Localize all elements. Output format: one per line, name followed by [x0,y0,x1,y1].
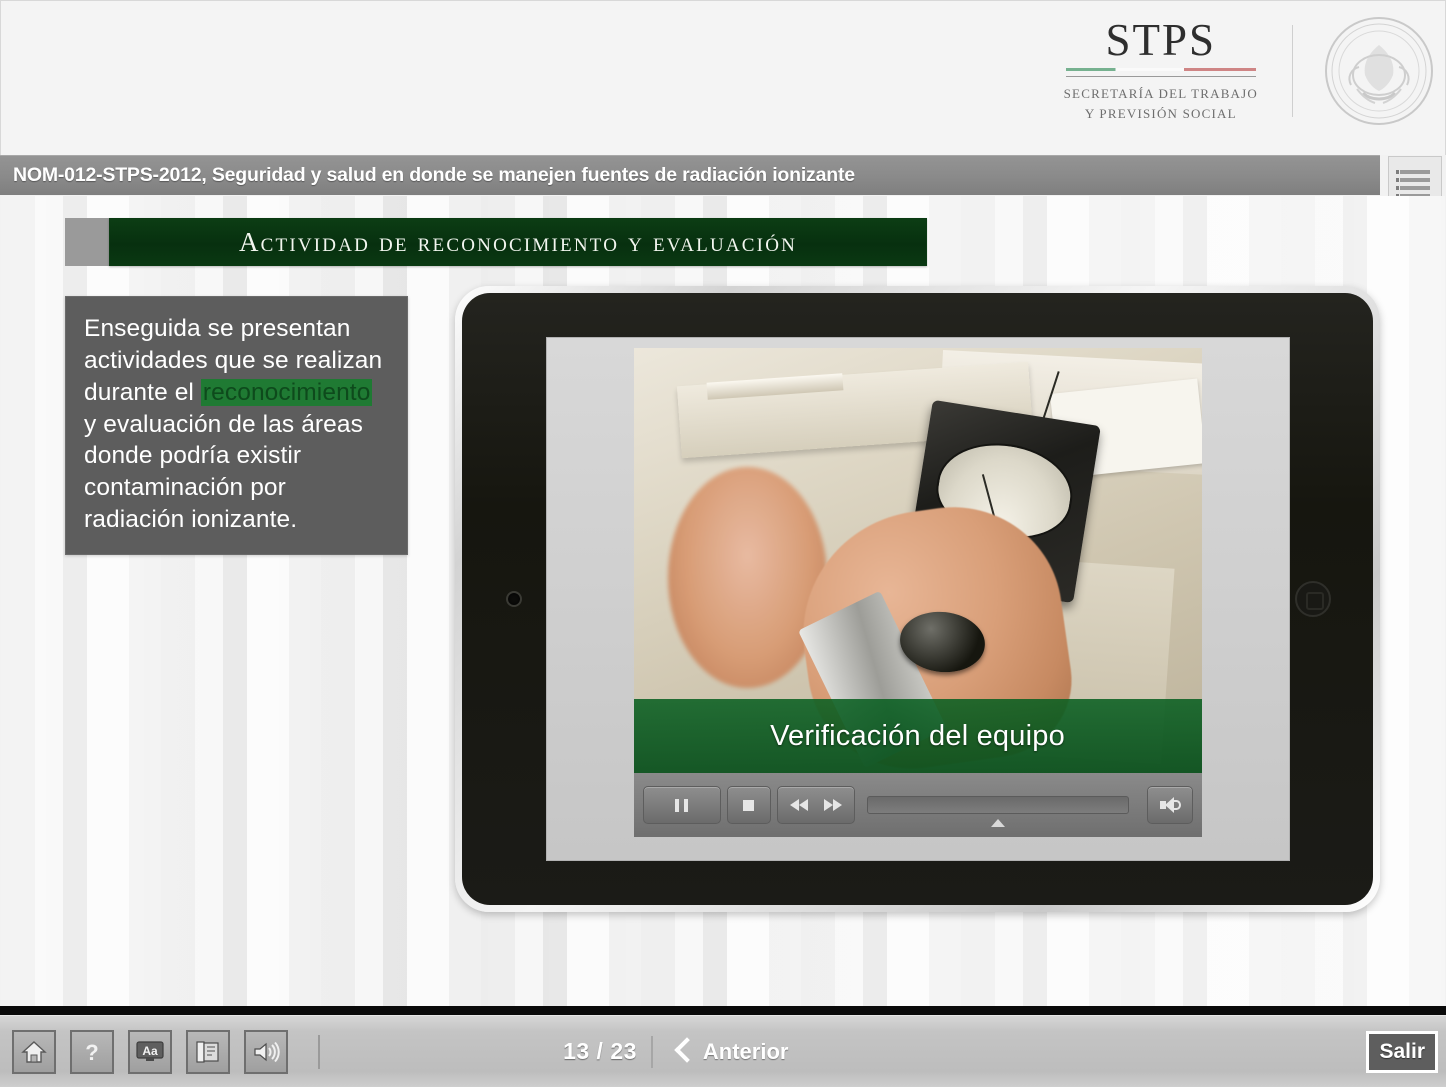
video-caption-text: Verificación del equipo [770,720,1065,753]
toolbar-separator [318,1035,320,1069]
section-banner: Actividad de reconocimiento y evaluación [65,218,927,266]
text-size-icon: Aa [136,1040,164,1064]
stop-button[interactable] [727,786,771,824]
audio-button[interactable] [244,1030,288,1074]
exit-button[interactable]: Salir [1366,1031,1438,1073]
text-size-button[interactable]: Aa [128,1030,172,1074]
tablet-device-mockup: Verificación del equipo [455,286,1380,912]
page-header: STPS SECRETARÍA DEL TRABAJO Y PREVISIÓN … [0,0,1446,155]
course-title-bar: NOM-012-STPS-2012, Seguridad y salud en … [0,155,1380,195]
previous-button[interactable]: Anterior [667,1034,797,1070]
pause-icon [675,799,688,812]
section-heading: Actividad de reconocimiento y evaluación [239,227,797,258]
course-player-window: STPS SECRETARÍA DEL TRABAJO Y PREVISIÓN … [0,0,1446,1087]
video-player-viewport[interactable]: Verificación del equipo [634,348,1202,773]
flag-rule [1066,68,1256,71]
mexican-coat-of-arms-icon [1323,15,1435,127]
player-toolbar: ? Aa [0,1015,1446,1087]
pause-button[interactable] [643,786,721,824]
banner-accent-square [65,218,109,266]
home-icon [21,1040,47,1064]
stps-subtitle-line2: Y PREVISIÓN SOCIAL [1085,104,1237,124]
keyword-link-reconocimiento[interactable]: reconocimiento [201,379,373,406]
glossary-button[interactable] [186,1030,230,1074]
tablet-camera-icon [506,591,522,607]
toolbar-icon-group: ? Aa [0,1030,320,1074]
help-button[interactable]: ? [70,1030,114,1074]
banner-body: Actividad de reconocimiento y evaluación [109,218,927,266]
stps-wordmark: STPS [1106,18,1217,63]
chevron-left-icon [675,1038,691,1066]
home-button[interactable] [12,1030,56,1074]
tablet-screen: Verificación del equipo [546,337,1290,861]
volume-icon [1160,797,1180,813]
body-text-part2: y evaluación de las áreas donde podría e… [84,411,363,534]
tablet-home-button[interactable] [1295,581,1331,617]
video-caption-bar: Verificación del equipo [634,699,1202,773]
audio-volume-icon [252,1040,280,1064]
slide-body-text: Enseguida se presentan actividades que s… [84,313,391,536]
svg-text:?: ? [85,1040,98,1065]
progress-track[interactable] [867,796,1129,814]
slide-text-panel: Enseguida se presentan actividades que s… [65,296,408,555]
page-indicator: 13 / 23 [563,1038,637,1065]
slide-stage: Actividad de reconocimiento y evaluación… [1,196,1445,1006]
help-icon: ? [79,1039,105,1065]
fast-forward-icon [824,799,842,811]
bottom-divider [0,1006,1446,1015]
stps-subtitle-line1: SECRETARÍA DEL TRABAJO [1064,84,1258,104]
svg-text:Aa: Aa [142,1044,158,1058]
rewind-icon [790,799,808,811]
volume-button[interactable] [1147,786,1193,824]
video-controls-bar [634,773,1202,837]
course-title: NOM-012-STPS-2012, Seguridad y salud en … [0,164,855,187]
logo-divider-rule [1066,76,1256,77]
header-vertical-divider [1292,25,1293,117]
header-branding: STPS SECRETARÍA DEL TRABAJO Y PREVISIÓN … [1064,15,1435,127]
tablet-bezel: Verificación del equipo [462,293,1373,905]
stps-logo: STPS SECRETARÍA DEL TRABAJO Y PREVISIÓN … [1064,18,1292,124]
pager-separator [651,1036,653,1068]
exit-button-wrap: Salir [1366,1031,1446,1073]
video-frame-hand-left [668,467,827,688]
progress-marker-icon [991,819,1005,827]
glossary-book-icon [195,1039,221,1065]
stop-icon [743,800,754,811]
previous-label: Anterior [703,1039,789,1065]
seek-buttons[interactable] [777,786,855,824]
